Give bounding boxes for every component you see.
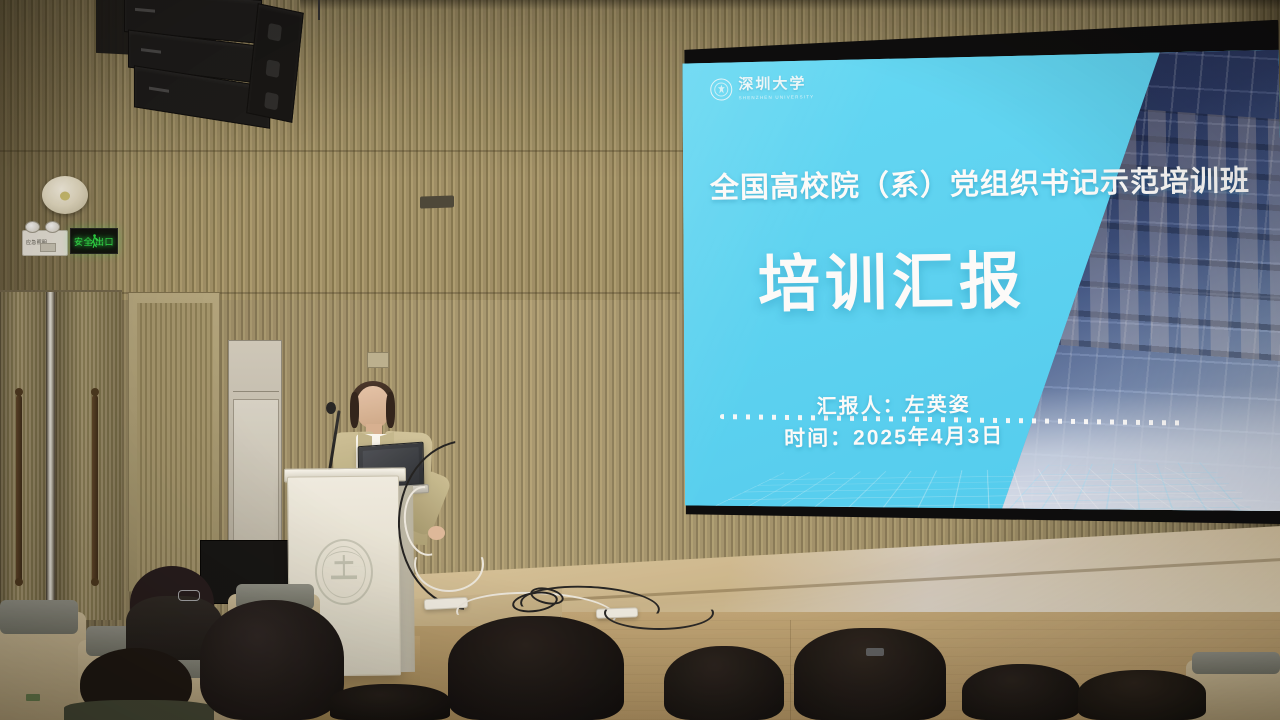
door-handle-knob: [15, 388, 23, 396]
screen-surface: 深圳大学 SHENZHEN UNIVERSITY 全国高校院（系）党组织书记示范…: [679, 50, 1280, 524]
door-gap-light: [46, 292, 55, 620]
logo-name-en: SHENZHEN UNIVERSITY: [739, 94, 815, 100]
seat-number-badge: [26, 694, 40, 701]
door-handle[interactable]: [16, 395, 22, 585]
door-handle[interactable]: [92, 395, 98, 585]
dome-ceiling-light: [42, 176, 88, 214]
slide-heading: 全国高校院（系）党组织书记示范培训班: [701, 157, 1260, 207]
presenter-hair-side: [386, 392, 395, 428]
audience-head: [448, 616, 624, 720]
wall-outlet-plate: [367, 352, 389, 368]
wall-vent: [420, 195, 454, 208]
microphone-head: [326, 402, 336, 414]
door-handle-knob: [91, 388, 99, 396]
audience-head: [200, 600, 344, 720]
seat-headrest: [1192, 652, 1280, 674]
slide-presenter-line: 汇报人：左英姿: [707, 388, 1079, 424]
emergency-light-panel: [40, 243, 56, 252]
podium-seal-icon: [315, 539, 374, 606]
slide-background: 深圳大学 SHENZHEN UNIVERSITY 全国高校院（系）党组织书记示范…: [679, 50, 1280, 524]
audience-head: [330, 684, 450, 720]
slide-date-line: 时间：2025年4月3日: [708, 419, 1080, 457]
ceiling-speaker-array: [118, 0, 298, 122]
lecture-hall-scene: 应急照明 安全 出口: [0, 0, 1280, 720]
audience-shoulders: [64, 700, 214, 720]
door-leaf-left[interactable]: [0, 292, 46, 620]
slide-meta-block: 汇报人：左英姿 时间：2025年4月3日: [707, 388, 1080, 457]
university-seal-icon: [710, 78, 732, 100]
seat-headrest: [0, 600, 78, 634]
audience-head: [1078, 670, 1206, 720]
exit-sign-label-right: 出口: [95, 238, 114, 247]
hair-clip-icon: [866, 648, 884, 656]
logo-name-cn: 深圳大学: [738, 77, 814, 93]
emergency-lamp-icon: [45, 221, 60, 233]
exit-sign-label-left: 安全: [74, 238, 93, 247]
building-windows: [967, 96, 1280, 361]
speaker-side-panel: [246, 3, 304, 123]
speaker-rigging: [318, 0, 320, 20]
door-handle-knob: [91, 578, 99, 586]
door-handle-knob: [15, 578, 23, 586]
exit-sign: 安全 出口: [70, 228, 118, 254]
audience-head: [794, 628, 946, 720]
led-screen: 深圳大学 SHENZHEN UNIVERSITY 全国高校院（系）党组织书记示范…: [664, 20, 1280, 549]
presenter-hair-side: [350, 392, 359, 428]
university-logo: 深圳大学 SHENZHEN UNIVERSITY: [710, 77, 814, 100]
glasses-icon: [178, 590, 200, 601]
door-leaf-right[interactable]: [56, 292, 122, 620]
emergency-lamp-icon: [25, 221, 40, 233]
slide-title: 培训汇报: [694, 250, 1091, 318]
audience-head: [664, 646, 784, 720]
presenter-head: [356, 386, 390, 428]
ceiling-strip: [300, 0, 1280, 10]
audience-head: [962, 664, 1080, 720]
